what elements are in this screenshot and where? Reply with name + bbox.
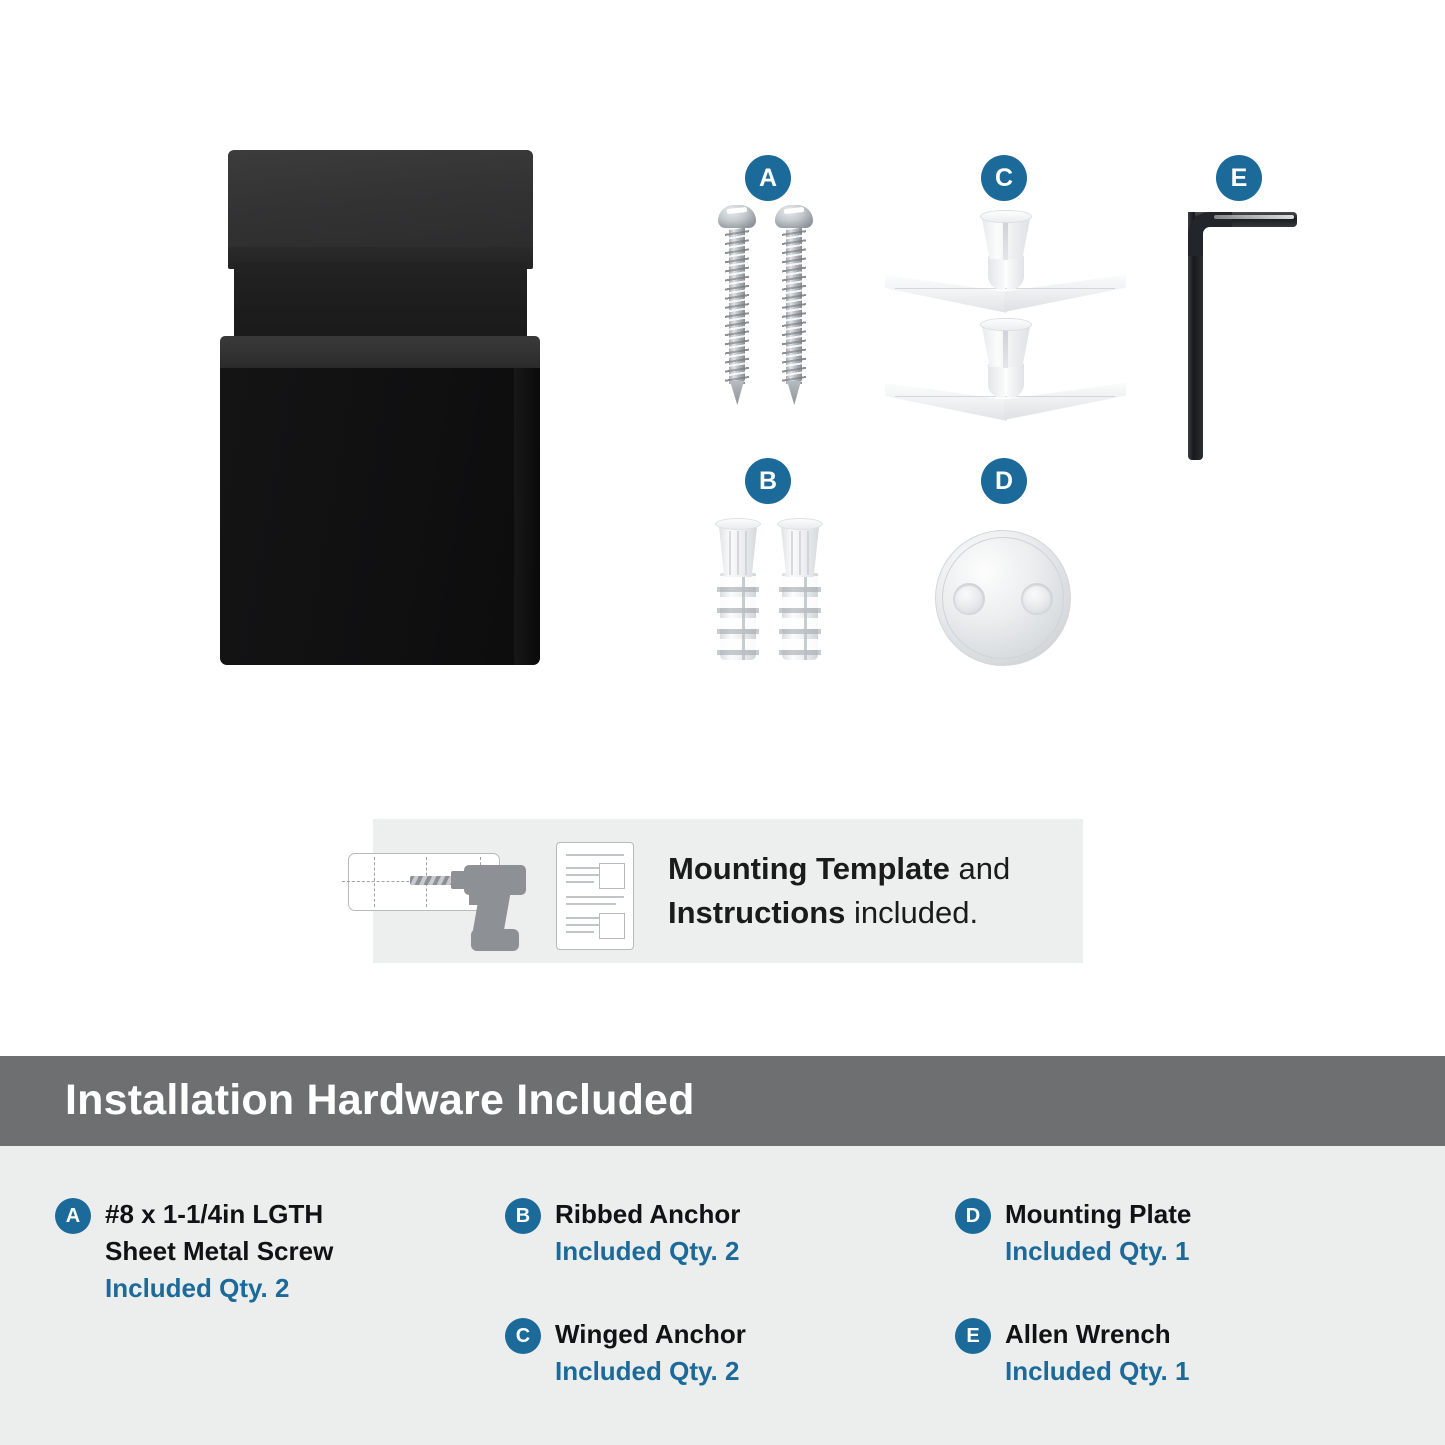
anchor-slot <box>1003 219 1008 260</box>
anchor-wing-seam <box>895 396 1115 397</box>
anchor-notch <box>742 574 745 660</box>
legend-item-b: B Ribbed Anchor Included Qty. 2 <box>505 1196 905 1270</box>
installation-hardware-sheet: A C E <box>0 0 1445 1445</box>
template-bold-1: Mounting Template <box>668 851 950 886</box>
legend-qty-c: Included Qty. 2 <box>555 1353 746 1390</box>
callout-badge-c: C <box>981 155 1027 201</box>
drill-icon <box>348 845 548 947</box>
document-icon <box>556 842 634 950</box>
wrench-highlight <box>1214 215 1294 219</box>
screw-tip <box>787 381 801 405</box>
legend-badge-b: B <box>505 1198 541 1234</box>
winged-anchor-1 <box>885 210 1125 318</box>
legend-item-d: D Mounting Plate Included Qty. 1 <box>955 1196 1355 1270</box>
anchor-stem-left <box>988 364 1005 398</box>
legend-item-e: E Allen Wrench Included Qty. 1 <box>955 1316 1355 1390</box>
allen-wrench <box>1170 170 1300 460</box>
screw-tip <box>730 381 744 405</box>
legend-qty-a: Included Qty. 2 <box>105 1270 333 1307</box>
template-rest-1: and <box>950 851 1010 886</box>
template-bold-2: Instructions <box>668 895 845 930</box>
callout-badge-b: B <box>745 458 791 504</box>
legend-badge-a: A <box>55 1198 91 1234</box>
anchor-wing-seam <box>895 288 1115 289</box>
legend-label-e: Allen Wrench <box>1005 1316 1189 1353</box>
ribbed-anchor-2 <box>777 518 823 660</box>
legend-label-c: Winged Anchor <box>555 1316 746 1353</box>
legend-label-d: Mounting Plate <box>1005 1196 1191 1233</box>
anchor-flange <box>715 518 761 530</box>
anchor-ribs <box>779 576 821 660</box>
ribbed-anchor-1 <box>715 518 761 660</box>
template-rest-2: included. <box>845 895 978 930</box>
anchor-flange <box>777 518 823 530</box>
document-thumb-1 <box>599 863 625 889</box>
template-crosshair-vertical <box>374 857 375 907</box>
screw-threads <box>725 227 749 382</box>
callout-badge-a: A <box>745 155 791 201</box>
drill-body <box>464 865 526 895</box>
anchor-cap <box>980 210 1032 223</box>
legend-badge-e: E <box>955 1318 991 1354</box>
sheet-metal-screw-1 <box>718 205 756 405</box>
legend-label-a-line2: Sheet Metal Screw <box>105 1233 333 1270</box>
legend-badge-d: D <box>955 1198 991 1234</box>
anchor-cone <box>719 527 757 577</box>
legend-label-a-line1: #8 x 1-1/4in LGTH <box>105 1196 333 1233</box>
anchor-ribs <box>717 576 759 660</box>
legend-qty-d: Included Qty. 1 <box>1005 1233 1191 1270</box>
anchor-stem-left <box>988 256 1005 290</box>
anchor-stem-right <box>1007 364 1024 398</box>
sheet-metal-screw-2 <box>775 205 813 405</box>
legend-item-a: A #8 x 1-1/4in LGTH Sheet Metal Screw In… <box>55 1196 475 1307</box>
product-image-square-hook <box>220 150 540 665</box>
legend-label-b: Ribbed Anchor <box>555 1196 740 1233</box>
page-title: Installation Hardware Included <box>65 1076 695 1125</box>
product-top-face <box>228 150 533 255</box>
plate-hole-left <box>953 583 985 615</box>
template-banner-text: Mounting Template and Instructions inclu… <box>668 847 1068 935</box>
callout-badge-d: D <box>981 458 1027 504</box>
anchor-slot <box>1003 327 1008 368</box>
screw-threads <box>782 227 806 382</box>
product-recess <box>234 262 527 347</box>
product-body <box>220 368 540 665</box>
mounting-plate <box>935 530 1071 666</box>
legend-qty-b: Included Qty. 2 <box>555 1233 740 1270</box>
document-thumb-2 <box>599 913 625 939</box>
anchor-cap <box>980 318 1032 331</box>
anchor-notch <box>804 574 807 660</box>
anchor-cone <box>781 527 819 577</box>
plate-hole-right <box>1021 583 1053 615</box>
legend-badge-c: C <box>505 1318 541 1354</box>
drill-battery <box>471 929 519 951</box>
drill-bit <box>410 876 454 885</box>
anchor-stem-right <box>1007 256 1024 290</box>
legend-qty-e: Included Qty. 1 <box>1005 1353 1189 1390</box>
winged-anchor-2 <box>885 318 1125 426</box>
legend-item-c: C Winged Anchor Included Qty. 2 <box>505 1316 905 1390</box>
